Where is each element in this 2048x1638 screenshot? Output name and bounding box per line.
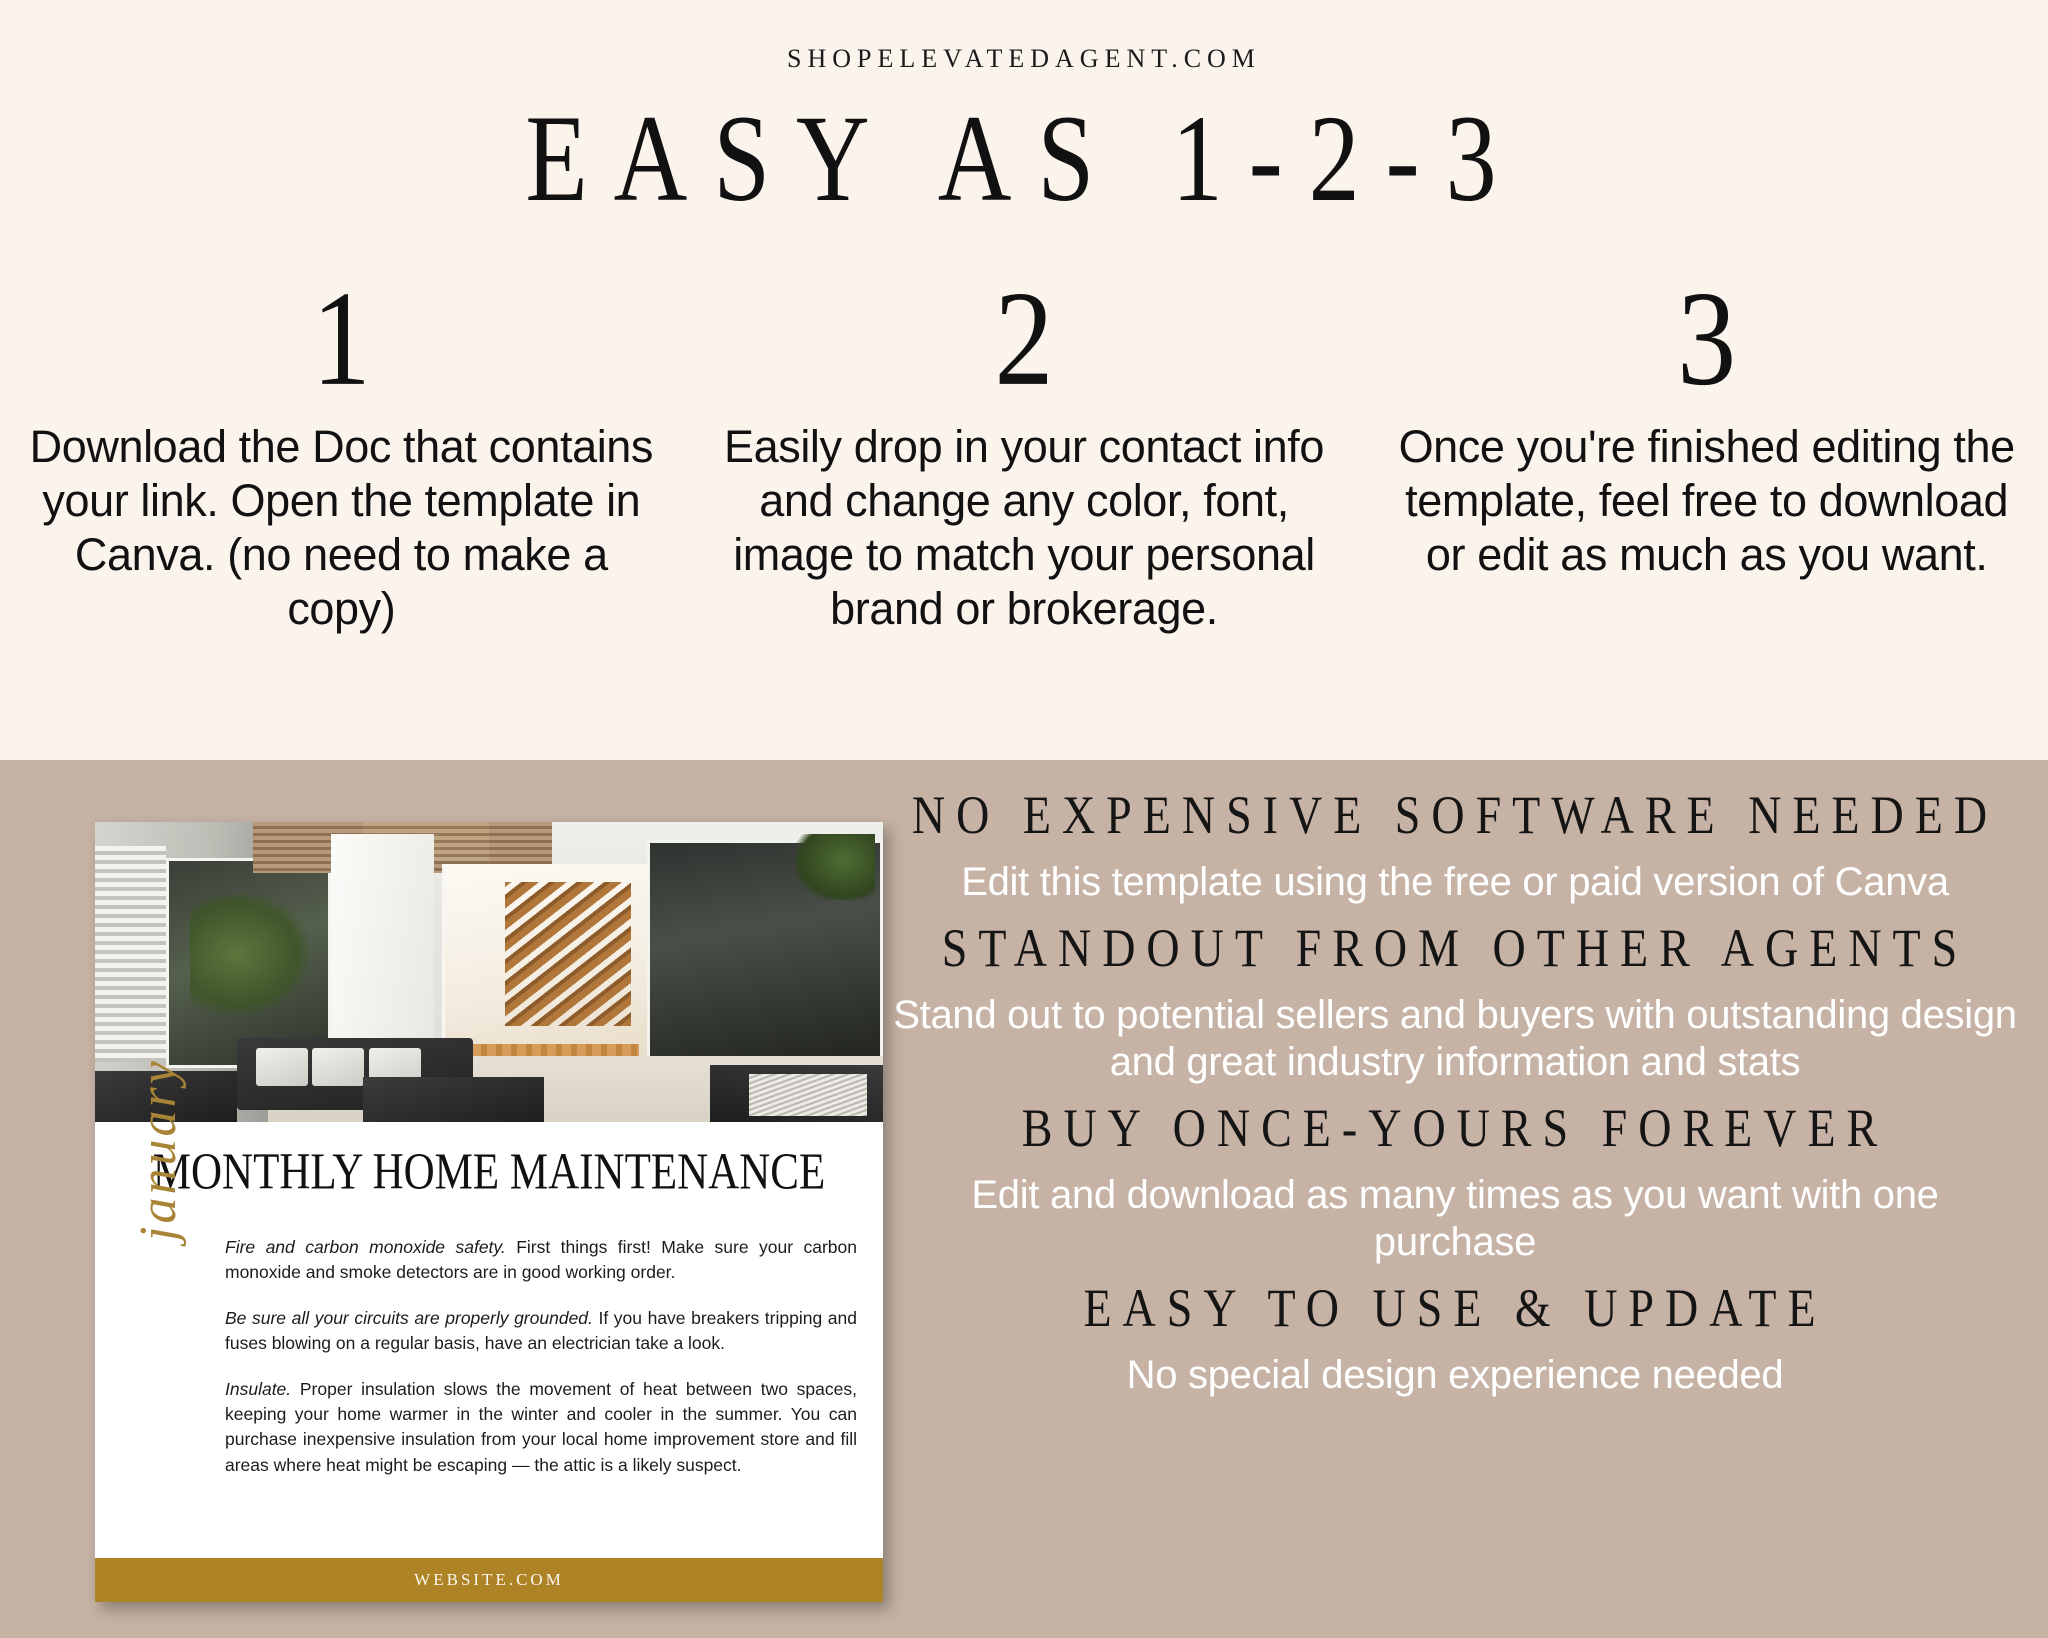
paragraph-lead: Be sure all your circuits are properly g…	[225, 1308, 593, 1328]
photo-cushion	[256, 1048, 308, 1085]
feature-body: Edit this template using the free or pai…	[890, 859, 2020, 905]
paragraph-lead: Fire and carbon monoxide safety.	[225, 1237, 506, 1257]
paragraph-body: Proper insulation slows the movement of …	[225, 1379, 857, 1475]
feature-body: Edit and download as many times as you w…	[890, 1172, 2020, 1265]
photo-staircase	[505, 882, 631, 1026]
bottom-panel: MONTHLY HOME MAINTENANCE january Fire an…	[0, 760, 2048, 1638]
promo-graphic: SHOPELEVATEDAGENT.COM EASY AS 1-2-3 1 Do…	[0, 0, 2048, 1638]
mockup-body: january Fire and carbon monoxide safety.…	[95, 1235, 883, 1478]
step-item: 1 Download the Doc that contains your li…	[0, 280, 683, 636]
feature-item: EASY TO USE & UPDATE No special design e…	[890, 1281, 2020, 1398]
month-script-label: january	[129, 1058, 188, 1241]
step-number: 1	[18, 271, 665, 407]
step-number: 3	[1383, 271, 2030, 407]
step-description: Download the Doc that contains your link…	[18, 420, 665, 636]
top-panel: SHOPELEVATEDAGENT.COM EASY AS 1-2-3 1 Do…	[0, 0, 2048, 760]
mockup-footer-label: WEBSITE.COM	[414, 1570, 564, 1590]
mockup-paragraph: Fire and carbon monoxide safety. First t…	[225, 1235, 857, 1286]
feature-item: NO EXPENSIVE SOFTWARE NEEDED Edit this t…	[890, 788, 2020, 905]
house-photo	[95, 822, 883, 1122]
feature-heading: BUY ONCE-YOURS FOREVER	[890, 1096, 2020, 1159]
feature-item: STANDOUT FROM OTHER AGENTS Stand out to …	[890, 921, 2020, 1085]
mockup-paragraph: Be sure all your circuits are properly g…	[225, 1306, 857, 1357]
step-number: 2	[701, 271, 1348, 407]
step-item: 2 Easily drop in your contact info and c…	[683, 280, 1366, 636]
feature-heading: NO EXPENSIVE SOFTWARE NEEDED	[890, 783, 2020, 846]
photo-striped-cushion	[749, 1074, 867, 1116]
paragraph-lead: Insulate.	[225, 1379, 291, 1399]
steps-row: 1 Download the Doc that contains your li…	[0, 280, 2048, 636]
site-url: SHOPELEVATEDAGENT.COM	[0, 44, 2048, 74]
photo-cushion	[312, 1048, 364, 1085]
photo-louvre-screen	[95, 846, 166, 1062]
page-title: EASY AS 1-2-3	[0, 88, 2048, 231]
step-description: Once you're finished editing the templat…	[1383, 420, 2030, 582]
step-item: 3 Once you're finished editing the templ…	[1365, 280, 2048, 582]
photo-white-pillar	[331, 834, 433, 1068]
feature-body: Stand out to potential sellers and buyer…	[890, 992, 2020, 1085]
photo-foliage	[190, 894, 308, 1014]
feature-item: BUY ONCE-YOURS FOREVER Edit and download…	[890, 1101, 2020, 1265]
template-mockup-card: MONTHLY HOME MAINTENANCE january Fire an…	[95, 822, 883, 1602]
feature-heading: STANDOUT FROM OTHER AGENTS	[890, 917, 2020, 980]
photo-coffee-table	[363, 1077, 544, 1122]
step-description: Easily drop in your contact info and cha…	[701, 420, 1348, 636]
features-list: NO EXPENSIVE SOFTWARE NEEDED Edit this t…	[890, 788, 2020, 1414]
feature-heading: EASY TO USE & UPDATE	[890, 1276, 2020, 1339]
mockup-title: MONTHLY HOME MAINTENANCE	[95, 1143, 883, 1202]
mockup-footer-bar: WEBSITE.COM	[95, 1558, 883, 1602]
mockup-paragraph: Insulate. Proper insulation slows the mo…	[225, 1377, 857, 1479]
photo-right-plant	[796, 834, 875, 900]
feature-body: No special design experience needed	[890, 1352, 2020, 1398]
